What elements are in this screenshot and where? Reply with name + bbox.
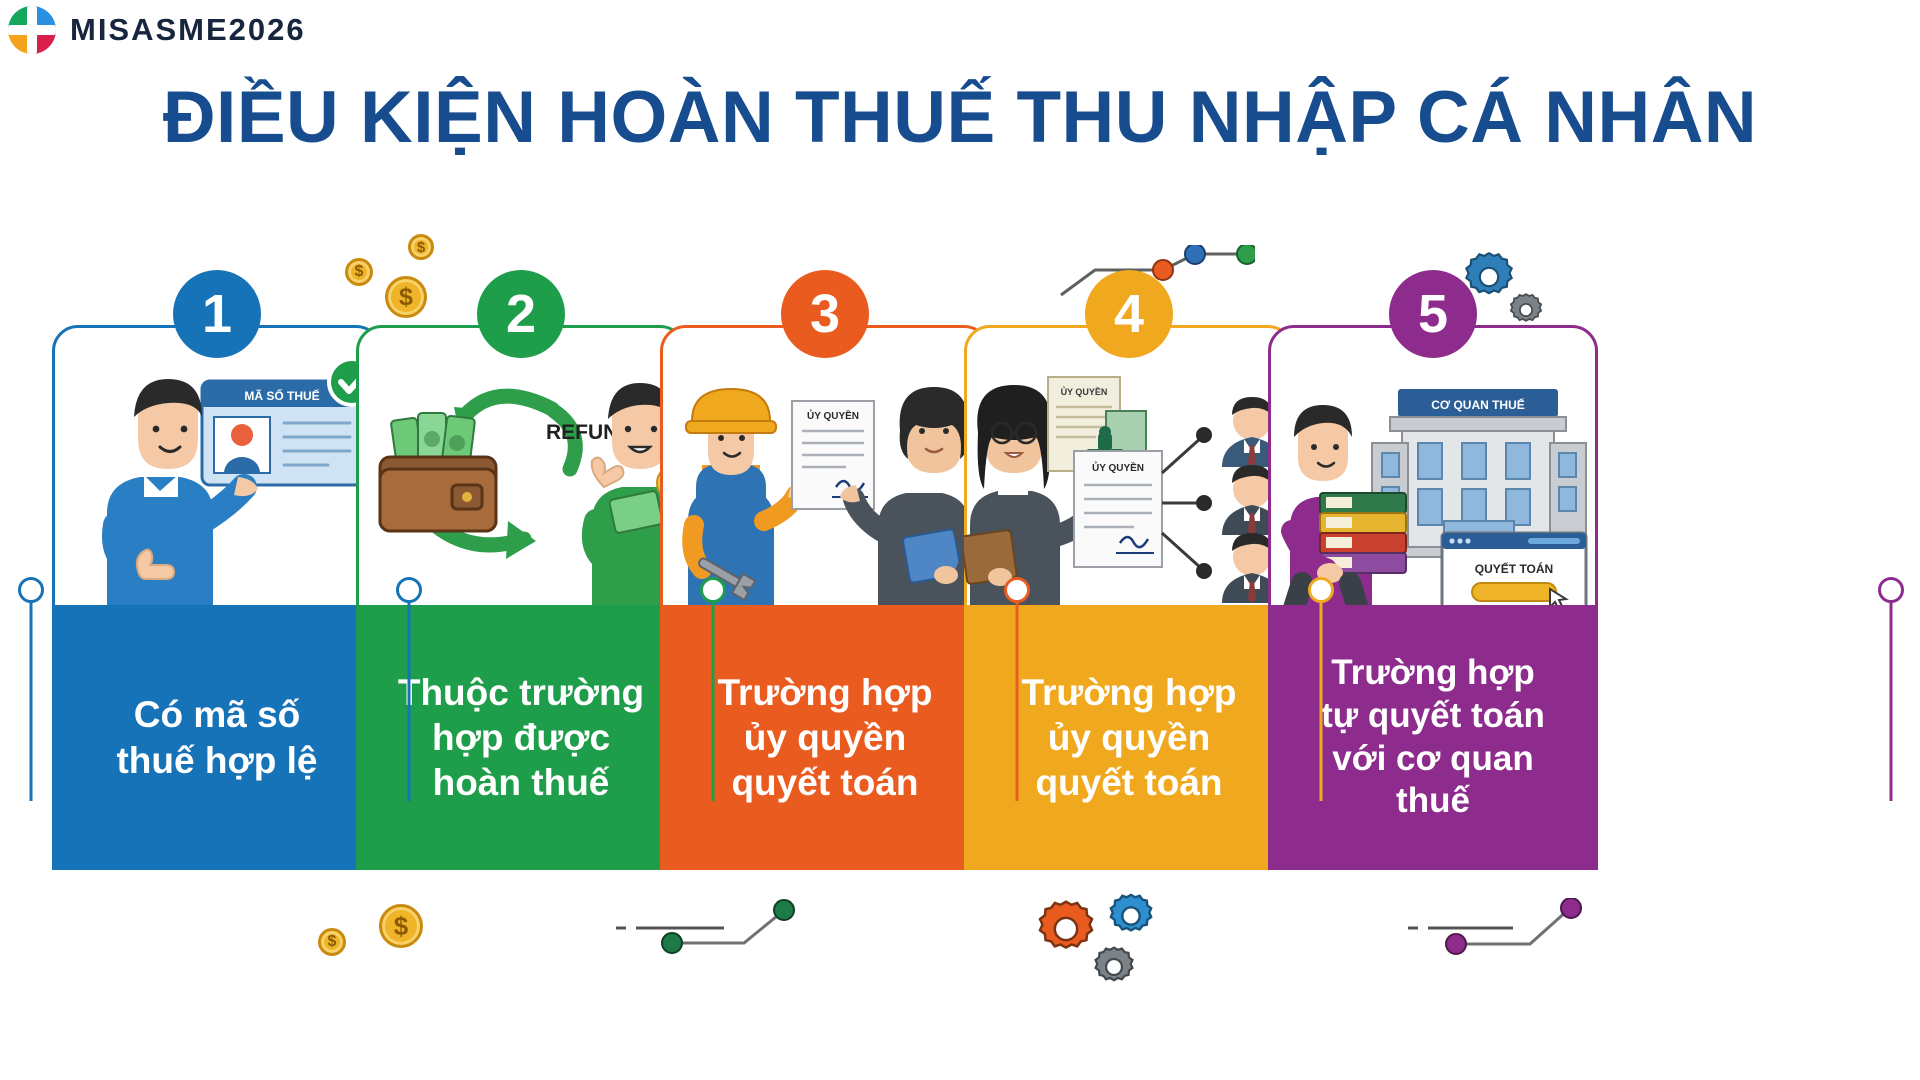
step-4-number: 4 (1085, 270, 1173, 358)
gear-orange-bottom-icon (1035, 898, 1097, 960)
coin-bottom-1: $ (318, 928, 346, 956)
connector-pin-5 (1878, 577, 1904, 603)
step-3-label: Trường hợp ủy quyền quyết toán (660, 605, 990, 870)
svg-text:CƠ QUAN THUẾ: CƠ QUAN THUẾ (1431, 397, 1525, 412)
connector-pin-4 (1308, 577, 1334, 603)
step-1-number: 1 (173, 270, 261, 358)
coin-bottom-2: $ (379, 904, 423, 948)
svg-text:ỦY QUYỀN: ỦY QUYỀN (1061, 386, 1108, 397)
connector-pin-3 (1004, 577, 1030, 603)
svg-text:MÃ SỐ THUẾ: MÃ SỐ THUẾ (244, 388, 319, 403)
brand-name: MISASME2026 (70, 12, 306, 48)
connector-pin-0 (18, 577, 44, 603)
page-title: ĐIỀU KIỆN HOÀN THUẾ THU NHẬP CÁ NHÂN (0, 76, 1920, 159)
step-3-illustration: ỦY QUYỀN (660, 325, 990, 605)
step-5-label: Trường hợp tự quyết toán với cơ quan thu… (1268, 605, 1598, 870)
step-card-1[interactable]: MÃ SỐ THUẾ (52, 325, 382, 870)
gear-gray-bottom-icon (1092, 945, 1136, 989)
connector-pin-1 (396, 577, 422, 603)
step-2-number: 2 (477, 270, 565, 358)
gear-blue-bottom-icon (1107, 892, 1155, 940)
infographic-page: MISASME2026 ĐIỀU KIỆN HOÀN THUẾ THU NHẬP… (0, 0, 1920, 1080)
step-1-label: Có mã số thuế hợp lệ (52, 605, 382, 870)
step-2-label: Thuộc trường hợp được hoàn thuế (356, 605, 686, 870)
step-5-illustration: CƠ QUAN THUẾ (1268, 325, 1598, 605)
connector-pin-2 (700, 577, 726, 603)
steps-row: MÃ SỐ THUẾ (0, 240, 1920, 890)
step-4-label: Trường hợp ủy quyền quyết toán (964, 605, 1294, 870)
node-line-bottom-right-icon (1408, 898, 1598, 958)
brand-logo: MISASME2026 (8, 6, 306, 54)
step-5-number: 5 (1389, 270, 1477, 358)
step-2-illustration: REFUND (356, 325, 686, 605)
step-3-number: 3 (781, 270, 869, 358)
svg-text:ỦY QUYỀN: ỦY QUYỀN (1092, 461, 1144, 474)
node-line-bottom-left-icon (612, 898, 802, 958)
step-4-illustration: ỦY QUYỀN (964, 325, 1294, 605)
step-1-illustration: MÃ SỐ THUẾ (52, 325, 382, 605)
misa-logo-icon (8, 6, 56, 54)
svg-text:QUYẾT TOÁN: QUYẾT TOÁN (1475, 561, 1553, 576)
svg-text:ỦY QUYỀN: ỦY QUYỀN (807, 409, 859, 422)
